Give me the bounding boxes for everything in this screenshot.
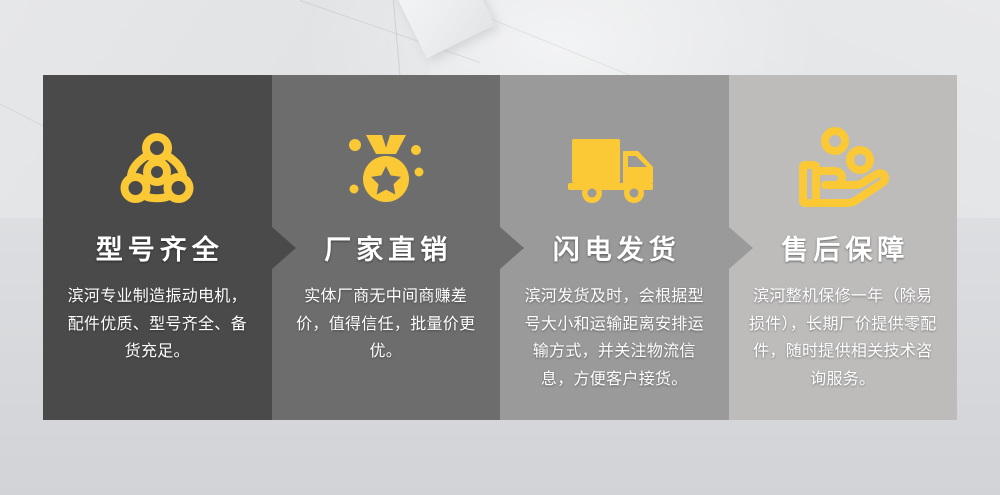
feature-panel-2[interactable]: 厂家直销 实体厂商无中间商赚差价，值得信任，批量价更优。 [272,75,501,420]
panel-title: 型号齐全 [91,237,224,264]
promo-banner: 型号齐全 滨河专业制造振动电机，配件优质、型号齐全、备货充足。 [0,0,1000,495]
panel-title: 售后保障 [776,237,909,264]
medal-star-icon [342,107,430,235]
feature-panel-4[interactable]: 售后保障 滨河整机保修一年（除易损件），长期厂价提供零配件，随时提供相关技术咨询… [729,75,958,420]
panel-title: 闪电发货 [548,237,681,264]
panel-body-text: 滨河整机保修一年（除易损件），长期厂价提供零配件，随时提供相关技术咨询服务。 [747,282,940,392]
arrow-connector-icon [272,227,296,269]
panel-body-text: 滨河发货及时，会根据型号大小和运输距离安排运输方式，并关注物流信息，方便客户接货… [518,282,711,392]
panel-title: 厂家直销 [319,237,452,264]
panel-body-text: 实体厂商无中间商赚差价，值得信任，批量价更优。 [290,282,483,365]
feature-panel-1[interactable]: 型号齐全 滨河专业制造振动电机，配件优质、型号齐全、备货充足。 [43,75,272,420]
panel-body-text: 滨河专业制造振动电机，配件优质、型号齐全、备货充足。 [61,282,254,365]
arrow-connector-icon [729,227,753,269]
hand-coins-icon [797,107,889,235]
feature-panel-3[interactable]: 闪电发货 滨河发货及时，会根据型号大小和运输距离安排运输方式，并关注物流信息，方… [500,75,729,420]
network-hub-icon [114,107,200,235]
delivery-truck-icon [568,107,660,235]
feature-panel-row: 型号齐全 滨河专业制造振动电机，配件优质、型号齐全、备货充足。 [43,75,957,420]
arrow-connector-icon [500,227,524,269]
